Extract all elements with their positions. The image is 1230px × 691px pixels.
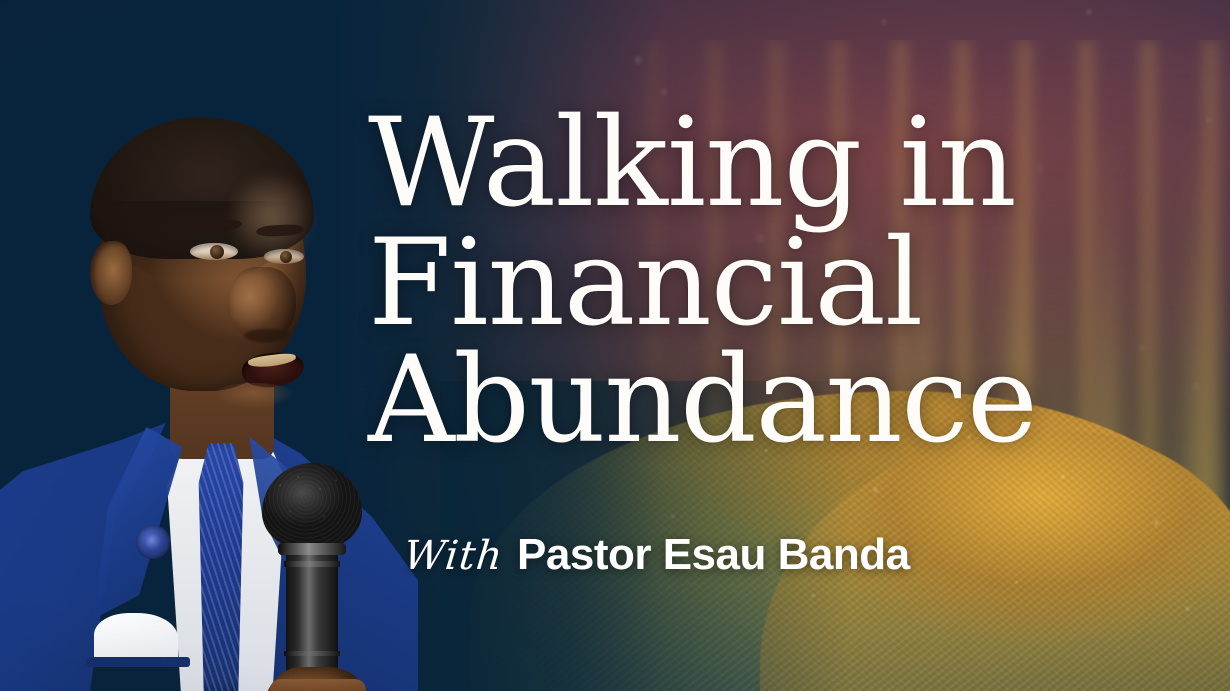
lapel-flower-pin-icon: [136, 525, 170, 559]
microphone-collar-ring: [278, 543, 346, 555]
microphone-windscreen-icon: [262, 463, 362, 549]
title-line-2: Financial: [368, 225, 1068, 343]
pocket-square-welt: [86, 657, 190, 667]
sermon-title-poster: Walking in Financial Abundance With Past…: [0, 0, 1230, 691]
speaker-credit: With Pastor Esau Banda: [404, 530, 910, 580]
title-line-1: Walking in: [368, 104, 1068, 225]
chin: [208, 383, 300, 415]
title-line-3: Abundance: [368, 342, 1068, 460]
finger-index: [270, 679, 366, 691]
microphone-ring-lower: [284, 651, 340, 656]
eye-right: [264, 249, 304, 264]
speaker-name: Pastor Esau Banda: [517, 530, 910, 580]
page-title: Walking in Financial Abundance: [368, 104, 1068, 460]
eye-left: [190, 243, 238, 260]
speaker-portrait: [0, 91, 386, 691]
microphone-ring-upper: [284, 561, 340, 567]
speaker-credit-prefix: With: [402, 533, 506, 579]
ear: [90, 241, 132, 305]
nostrils: [244, 329, 290, 342]
